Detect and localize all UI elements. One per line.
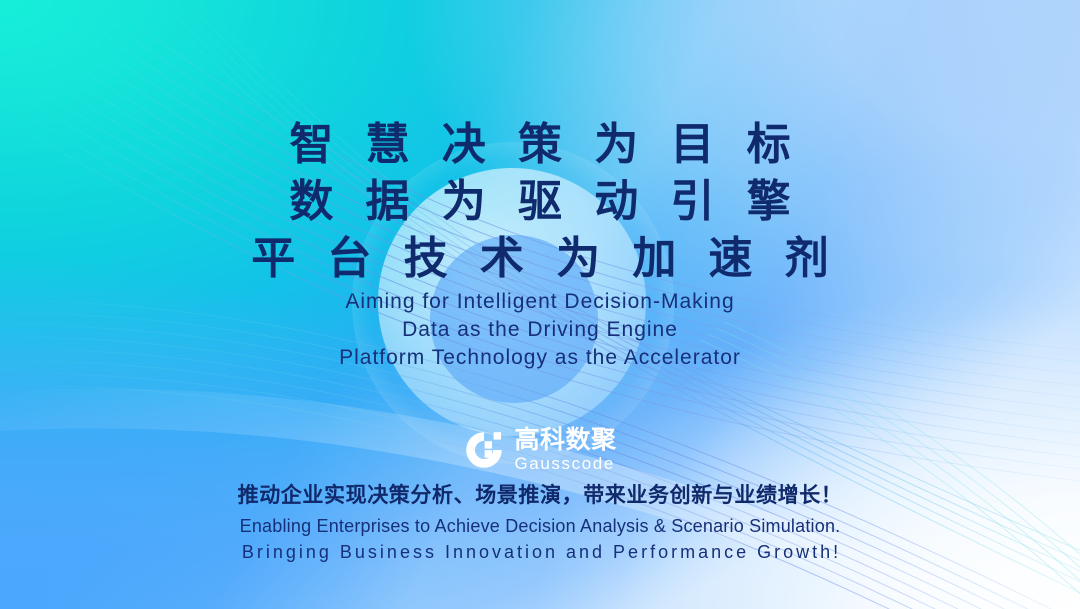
subtitle-block: Aiming for Intelligent Decision-Making D… (0, 288, 1080, 372)
gausscode-logo-mark-icon (463, 429, 505, 471)
subtitle-line-2: Data as the Driving Engine (0, 316, 1080, 344)
tagline-chinese: 推动企业实现决策分析、场景推演，带来业务创新与业绩增长！ (0, 481, 1080, 511)
headline-line-3: 平 台 技 术 为 加 速 剂 (0, 230, 1080, 287)
headline-line-2: 数 据 为 驱 动 引 擎 (0, 173, 1080, 230)
brand-wordmark: 高科数聚 Gausscode (514, 427, 616, 473)
subtitle-line-1: Aiming for Intelligent Decision-Making (0, 288, 1080, 316)
subtitle-line-3: Platform Technology as the Accelerator (0, 344, 1080, 372)
brand-name-english: Gausscode (514, 454, 614, 473)
tagline-english-line1: Enabling Enterprises to Achieve Decision… (0, 513, 1080, 539)
headline-block: 智 慧 决 策 为 目 标 数 据 为 驱 动 引 擎 平 台 技 术 为 加 … (0, 116, 1080, 287)
tagline-block: 推动企业实现决策分析、场景推演，带来业务创新与业绩增长！ Enabling En… (0, 481, 1080, 565)
tagline-english-line2: Bringing Business Innovation and Perform… (0, 539, 1080, 565)
promotional-banner: 智 慧 决 策 为 目 标 数 据 为 驱 动 引 擎 平 台 技 术 为 加 … (0, 0, 1080, 609)
brand-name-chinese: 高科数聚 (514, 427, 616, 453)
brand-logo: 高科数聚 Gausscode (0, 427, 1080, 473)
headline-line-1: 智 慧 决 策 为 目 标 (0, 116, 1080, 173)
